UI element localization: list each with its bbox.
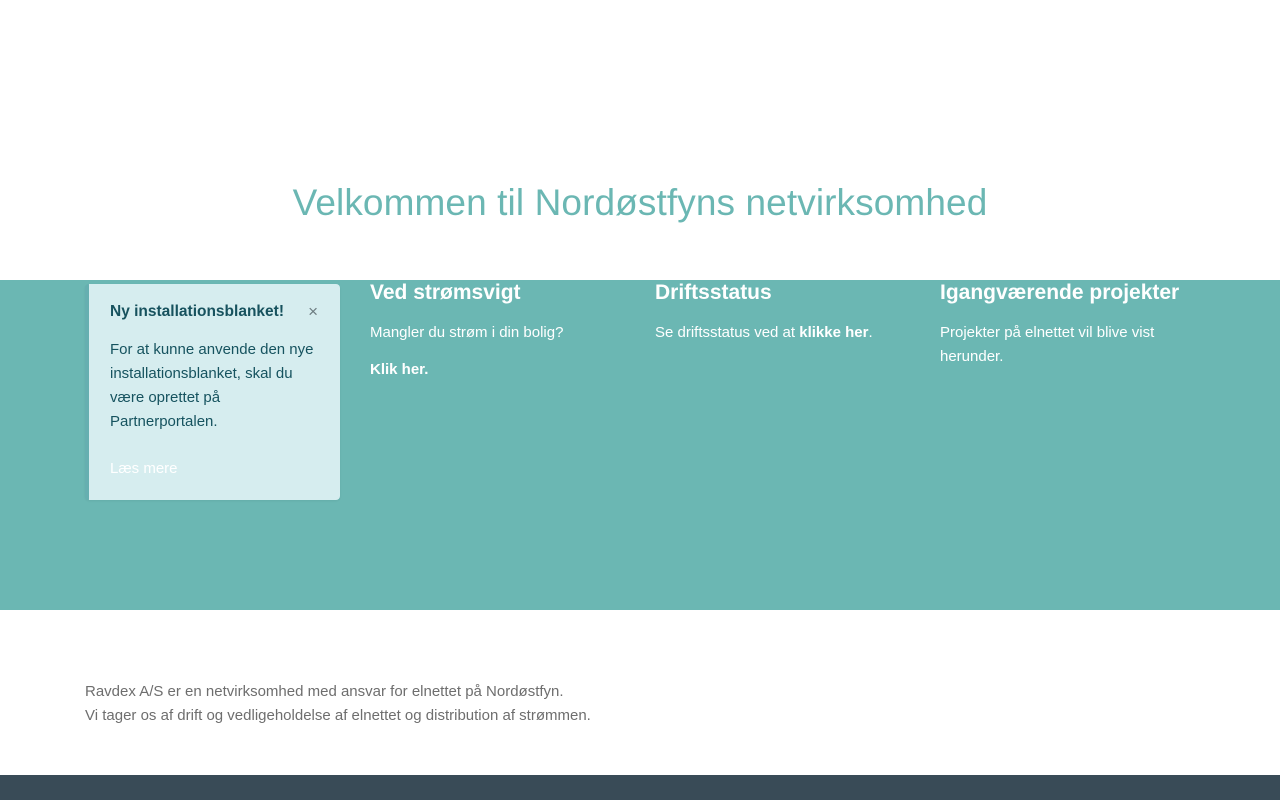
about-section: Ravdex A/S er en netvirksomhed med ansva… [0, 610, 1280, 775]
column-text-ongoing-projects: Projekter på elnettet vil blive vist her… [940, 321, 1220, 369]
close-icon[interactable]: × [306, 303, 320, 320]
read-more-link[interactable]: Læs mere [110, 460, 178, 478]
notification-card: Ny installationsblanket! × For at kunne … [85, 284, 340, 500]
notification-title: Ny installationsblanket! [110, 302, 284, 322]
page-root: Velkommen til Nordøstfyns netvirksomhed … [0, 0, 1280, 800]
operating-status-text-before: Se driftsstatus ved at [655, 324, 799, 341]
operating-status-link[interactable]: klikke her [799, 324, 868, 341]
page-title: Velkommen til Nordøstfyns netvirksomhed [293, 183, 988, 224]
column-title-power-outage: Ved strømsvigt [370, 280, 620, 305]
notification-header: Ny installationsblanket! × [110, 302, 320, 322]
info-band: Ny installationsblanket! × For at kunne … [0, 280, 1280, 610]
column-operating-status: Driftsstatus Se driftsstatus ved at klik… [655, 280, 915, 345]
column-ongoing-projects: Igangværende projekter Projekter på elne… [940, 280, 1220, 369]
column-power-outage: Ved strømsvigt Mangler du strøm i din bo… [370, 280, 620, 378]
column-text-power-outage: Mangler du strøm i din bolig? [370, 321, 620, 345]
about-line-1: Ravdex A/S er en netvirksomhed med ansva… [85, 680, 1280, 704]
about-line-2: Vi tager os af drift og vedligeholdelse … [85, 704, 1280, 728]
operating-status-text-after: . [868, 324, 872, 341]
power-outage-cta-link[interactable]: Klik her. [370, 361, 620, 378]
column-title-operating-status: Driftsstatus [655, 280, 915, 305]
column-title-ongoing-projects: Igangværende projekter [940, 280, 1220, 305]
footer-bar [0, 775, 1280, 800]
column-text-operating-status: Se driftsstatus ved at klikke her. [655, 321, 915, 345]
hero-section: Velkommen til Nordøstfyns netvirksomhed [0, 0, 1280, 280]
info-band-inner: Ny installationsblanket! × For at kunne … [0, 280, 1280, 610]
notification-body: For at kunne anvende den nye installatio… [110, 338, 320, 434]
